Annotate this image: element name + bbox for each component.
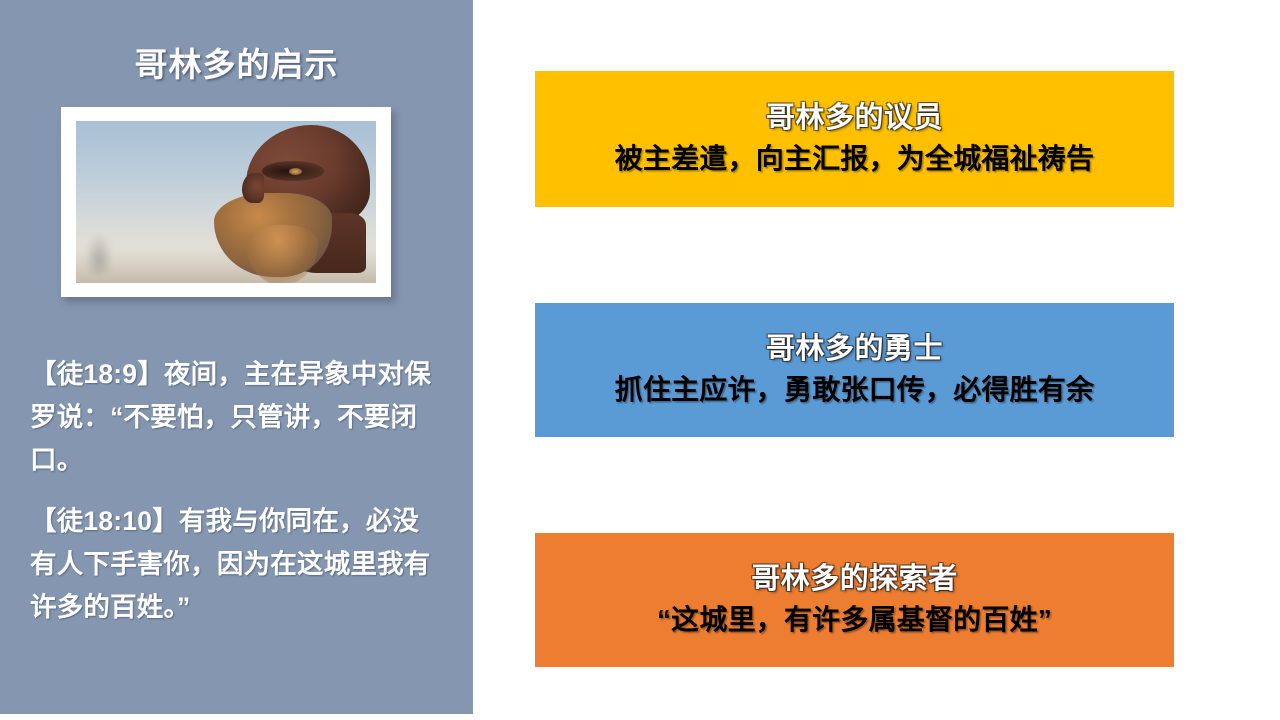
bearded-man-portrait-image xyxy=(76,121,376,283)
scripture-text-block: 【徒18:9】夜间，主在异象中对保罗说：“不要怕，只管讲，不要闭口。 【徒18:… xyxy=(30,353,443,629)
role-banner-title: 哥林多的探索者 xyxy=(751,560,958,598)
role-banner-title: 哥林多的议员 xyxy=(766,99,943,137)
role-banner-warrior[interactable]: 哥林多的勇士 抓住主应许，勇敢张口传，必得胜有余 xyxy=(535,303,1174,437)
scripture-verse: 【徒18:9】夜间，主在异象中对保罗说：“不要怕，只管讲，不要闭口。 xyxy=(30,353,443,482)
left-sidebar-panel: 哥林多的启示 【徒18:9】夜间，主在异象中对保罗说：“不要怕，只管讲，不要闭口… xyxy=(0,0,473,714)
photo-eye xyxy=(289,168,302,175)
role-banner-seeker[interactable]: 哥林多的探索者 “这城里，有许多属基督的百姓” xyxy=(535,533,1174,667)
role-banner-councillor[interactable]: 哥林多的议员 被主差遣，向主汇报，为全城福祉祷告 xyxy=(535,71,1174,207)
role-banner-subtitle: 被主差遣，向主汇报，为全城福祉祷告 xyxy=(615,139,1094,179)
photo-shrub xyxy=(86,235,112,275)
page-title: 哥林多的启示 xyxy=(0,38,473,86)
role-banner-subtitle: 抓住主应许，勇敢张口传，必得胜有余 xyxy=(615,370,1094,410)
role-banner-title: 哥林多的勇士 xyxy=(766,330,943,368)
scripture-verse: 【徒18:10】有我与你同在，必没有人下手害你，因为在这城里我有许多的百姓。” xyxy=(30,500,443,629)
photo-nose xyxy=(242,173,264,203)
photo-frame xyxy=(61,107,391,297)
presentation-slide: 哥林多的启示 【徒18:9】夜间，主在异象中对保罗说：“不要怕，只管讲，不要闭口… xyxy=(0,0,1280,720)
role-banner-subtitle: “这城里，有许多属基督的百姓” xyxy=(657,600,1052,640)
